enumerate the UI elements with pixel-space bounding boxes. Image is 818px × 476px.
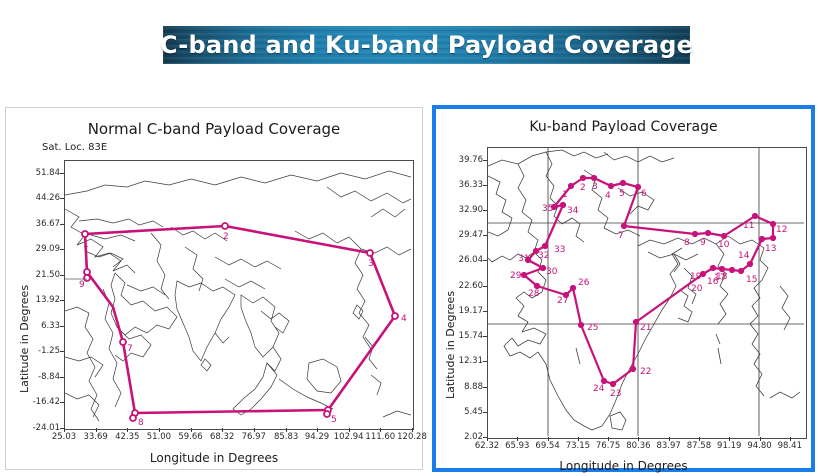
y-axis-tick: 6.33 — [41, 321, 60, 331]
y-axis-tick-mark — [60, 224, 64, 225]
svg-text:12: 12 — [776, 225, 787, 235]
x-axis-tick-mark — [191, 428, 192, 432]
svg-text:30: 30 — [546, 267, 558, 277]
c-band-vertex-labels: 1 2 3 4 5 8 7 9 — [79, 232, 407, 427]
y-axis-tick-mark — [60, 351, 64, 352]
svg-text:34: 34 — [567, 206, 579, 216]
svg-text:23: 23 — [610, 389, 621, 399]
x-axis-tick-mark — [222, 428, 223, 432]
x-axis-tick-mark — [349, 428, 350, 432]
y-axis-tick: 29.47 — [459, 230, 483, 240]
x-axis-tick-mark — [96, 428, 97, 432]
x-axis-tick: 111.60 — [365, 432, 395, 442]
y-axis-tick-mark — [60, 377, 64, 378]
svg-text:2: 2 — [223, 232, 229, 242]
ku-band-chart-panel: Ku-band Payload Coverage Latitude in Deg… — [432, 105, 815, 472]
y-axis-tick: 21.50 — [36, 270, 60, 280]
y-axis-tick: -16.42 — [33, 397, 60, 407]
y-axis-tick: 36.67 — [36, 219, 60, 229]
y-axis-tick-mark — [60, 198, 64, 199]
y-axis-tick: 51.84 — [36, 168, 60, 178]
svg-text:8: 8 — [138, 418, 144, 427]
svg-text:28: 28 — [528, 289, 540, 299]
y-axis-tick: 13.92 — [36, 295, 60, 305]
y-axis-tick: 32.90 — [459, 205, 483, 215]
svg-text:7: 7 — [618, 231, 624, 241]
svg-text:20: 20 — [691, 284, 703, 294]
x-axis-tick: 87.58 — [687, 441, 711, 451]
x-axis-tick-mark — [729, 437, 730, 441]
x-axis-tick: 98.41 — [778, 441, 802, 451]
y-axis-tick-mark — [483, 286, 487, 287]
ku-band-coverage-vertices — [521, 175, 775, 386]
x-axis-tick: 94.29 — [305, 432, 329, 442]
svg-text:6: 6 — [641, 189, 647, 199]
x-axis-tick: 42.35 — [115, 432, 139, 442]
x-axis-tick-mark — [548, 437, 549, 441]
page-title: C-band and Ku-band Payload Coverage — [160, 31, 693, 59]
svg-text:2: 2 — [580, 183, 586, 193]
svg-text:8: 8 — [684, 238, 690, 248]
x-axis-tick: 85.83 — [274, 432, 298, 442]
x-axis-tick-mark — [638, 437, 639, 441]
svg-text:25: 25 — [587, 323, 598, 333]
x-axis-tick-mark — [578, 437, 579, 441]
ku-band-plot-area: 1 2 3 4 5 6 7 8 9 10 11 12 13 14 15 16 1… — [487, 147, 807, 439]
x-axis-tick-mark — [159, 428, 160, 432]
svg-text:18: 18 — [716, 272, 728, 282]
x-axis-tick: 76.97 — [242, 432, 266, 442]
svg-text:14: 14 — [738, 251, 750, 261]
svg-text:24: 24 — [593, 384, 605, 394]
y-axis-tick: 5.45 — [464, 407, 483, 417]
x-axis-tick: 76.75 — [596, 441, 620, 451]
svg-text:11: 11 — [743, 221, 754, 231]
y-axis-tick-mark — [60, 300, 64, 301]
svg-text:27: 27 — [557, 296, 568, 306]
y-axis-tick-mark — [60, 326, 64, 327]
c-band-chart-title: Normal C-band Payload Coverage — [6, 120, 422, 138]
svg-text:5: 5 — [619, 189, 625, 199]
x-axis-tick: 25.03 — [52, 432, 76, 442]
svg-text:22: 22 — [640, 367, 651, 377]
svg-text:4: 4 — [605, 191, 611, 201]
svg-text:33: 33 — [554, 245, 565, 255]
y-axis-tick: 8.88 — [464, 382, 483, 392]
c-band-coastline-layer — [65, 171, 411, 421]
x-axis-tick: 94.80 — [747, 441, 771, 451]
x-axis-tick-mark — [64, 428, 65, 432]
x-axis-tick: 102.94 — [334, 432, 364, 442]
svg-text:1: 1 — [83, 240, 89, 250]
x-axis-tick: 73.15 — [566, 441, 590, 451]
svg-text:9: 9 — [79, 280, 85, 290]
x-axis-tick-mark — [790, 437, 791, 441]
x-axis-tick-mark — [517, 437, 518, 441]
svg-text:3: 3 — [592, 182, 598, 192]
x-axis-tick: 80.36 — [626, 441, 650, 451]
y-axis-tick-mark — [60, 275, 64, 276]
c-band-chart-panel: Normal C-band Payload Coverage Sat. Loc.… — [5, 107, 423, 470]
ku-band-x-axis-label: Longitude in Degrees — [436, 459, 811, 473]
y-axis-tick-mark — [60, 173, 64, 174]
x-axis-tick-mark — [699, 437, 700, 441]
y-axis-tick: 26.04 — [459, 255, 483, 265]
y-axis-tick: 29.09 — [36, 244, 60, 254]
x-axis-tick: 91.19 — [717, 441, 741, 451]
c-band-x-axis-label: Longitude in Degrees — [6, 451, 422, 465]
page-title-banner: C-band and Ku-band Payload Coverage — [163, 26, 690, 64]
x-axis-tick-mark — [254, 428, 255, 432]
c-band-coverage-vertices — [82, 223, 398, 421]
y-axis-tick: 44.26 — [36, 193, 60, 203]
x-axis-tick-mark — [669, 437, 670, 441]
y-axis-tick: -1.25 — [38, 346, 60, 356]
c-band-plot-area: 1 2 3 4 5 8 7 9 — [64, 160, 414, 430]
svg-text:35: 35 — [542, 204, 553, 214]
y-axis-tick: 12.31 — [459, 356, 483, 366]
ku-band-chart-title: Ku-band Payload Coverage — [436, 119, 811, 135]
y-axis-tick: 39.76 — [459, 155, 483, 165]
ku-band-map-svg: 1 2 3 4 5 6 7 8 9 10 11 12 13 14 15 16 1… — [488, 148, 804, 436]
svg-text:1: 1 — [562, 190, 568, 200]
ku-band-y-axis-label: Latitude in Degrees — [444, 291, 457, 399]
svg-text:26: 26 — [578, 278, 590, 288]
svg-text:15: 15 — [746, 275, 757, 285]
svg-text:9: 9 — [700, 238, 706, 248]
y-axis-tick-mark — [483, 185, 487, 186]
svg-text:4: 4 — [401, 314, 407, 324]
svg-text:32: 32 — [538, 251, 549, 261]
svg-text:13: 13 — [765, 244, 776, 254]
y-axis-tick-mark — [60, 402, 64, 403]
y-axis-tick: 36.33 — [459, 180, 483, 190]
y-axis-tick: 15.74 — [459, 331, 483, 341]
x-axis-tick: 33.69 — [83, 432, 107, 442]
x-axis-tick-mark — [412, 428, 413, 432]
svg-text:7: 7 — [127, 344, 133, 354]
x-axis-tick: 59.66 — [178, 432, 202, 442]
c-band-y-axis-label: Latitude in Degrees — [18, 285, 31, 393]
svg-text:19: 19 — [690, 272, 702, 282]
y-axis-tick: -8.84 — [38, 372, 60, 382]
x-axis-tick-mark — [380, 428, 381, 432]
c-band-satellite-location-label: Sat. Loc. 83E — [42, 142, 107, 153]
y-axis-tick-mark — [483, 336, 487, 337]
x-axis-tick-mark — [760, 437, 761, 441]
svg-text:3: 3 — [368, 259, 374, 269]
x-axis-tick-mark — [608, 437, 609, 441]
x-axis-tick: 69.54 — [535, 441, 559, 451]
y-axis-tick-mark — [483, 311, 487, 312]
x-axis-tick: 65.93 — [505, 441, 529, 451]
y-axis-tick-mark — [483, 260, 487, 261]
x-axis-tick: 120.28 — [397, 432, 427, 442]
svg-text:31: 31 — [518, 254, 529, 264]
y-axis-tick-mark — [483, 210, 487, 211]
x-axis-tick-mark — [127, 428, 128, 432]
x-axis-tick-mark — [286, 428, 287, 432]
svg-text:5: 5 — [331, 415, 337, 425]
svg-text:29: 29 — [510, 271, 522, 281]
x-axis-tick-mark — [317, 428, 318, 432]
y-axis-tick-mark — [483, 361, 487, 362]
y-axis-tick-mark — [483, 412, 487, 413]
x-axis-tick: 68.32 — [210, 432, 234, 442]
y-axis-tick-mark — [483, 160, 487, 161]
y-axis-tick-mark — [60, 249, 64, 250]
svg-text:10: 10 — [718, 240, 730, 250]
y-axis-tick: 19.17 — [459, 306, 483, 316]
y-axis-tick: 22.60 — [459, 281, 483, 291]
x-axis-tick: 62.32 — [475, 441, 499, 451]
c-band-coverage-contour — [85, 226, 395, 413]
y-axis-tick-mark — [483, 387, 487, 388]
x-axis-tick-mark — [487, 437, 488, 441]
x-axis-tick: 83.97 — [656, 441, 680, 451]
y-axis-tick-mark — [483, 235, 487, 236]
c-band-map-svg: 1 2 3 4 5 8 7 9 — [65, 161, 411, 427]
x-axis-tick: 51.00 — [147, 432, 171, 442]
svg-text:21: 21 — [640, 323, 651, 333]
